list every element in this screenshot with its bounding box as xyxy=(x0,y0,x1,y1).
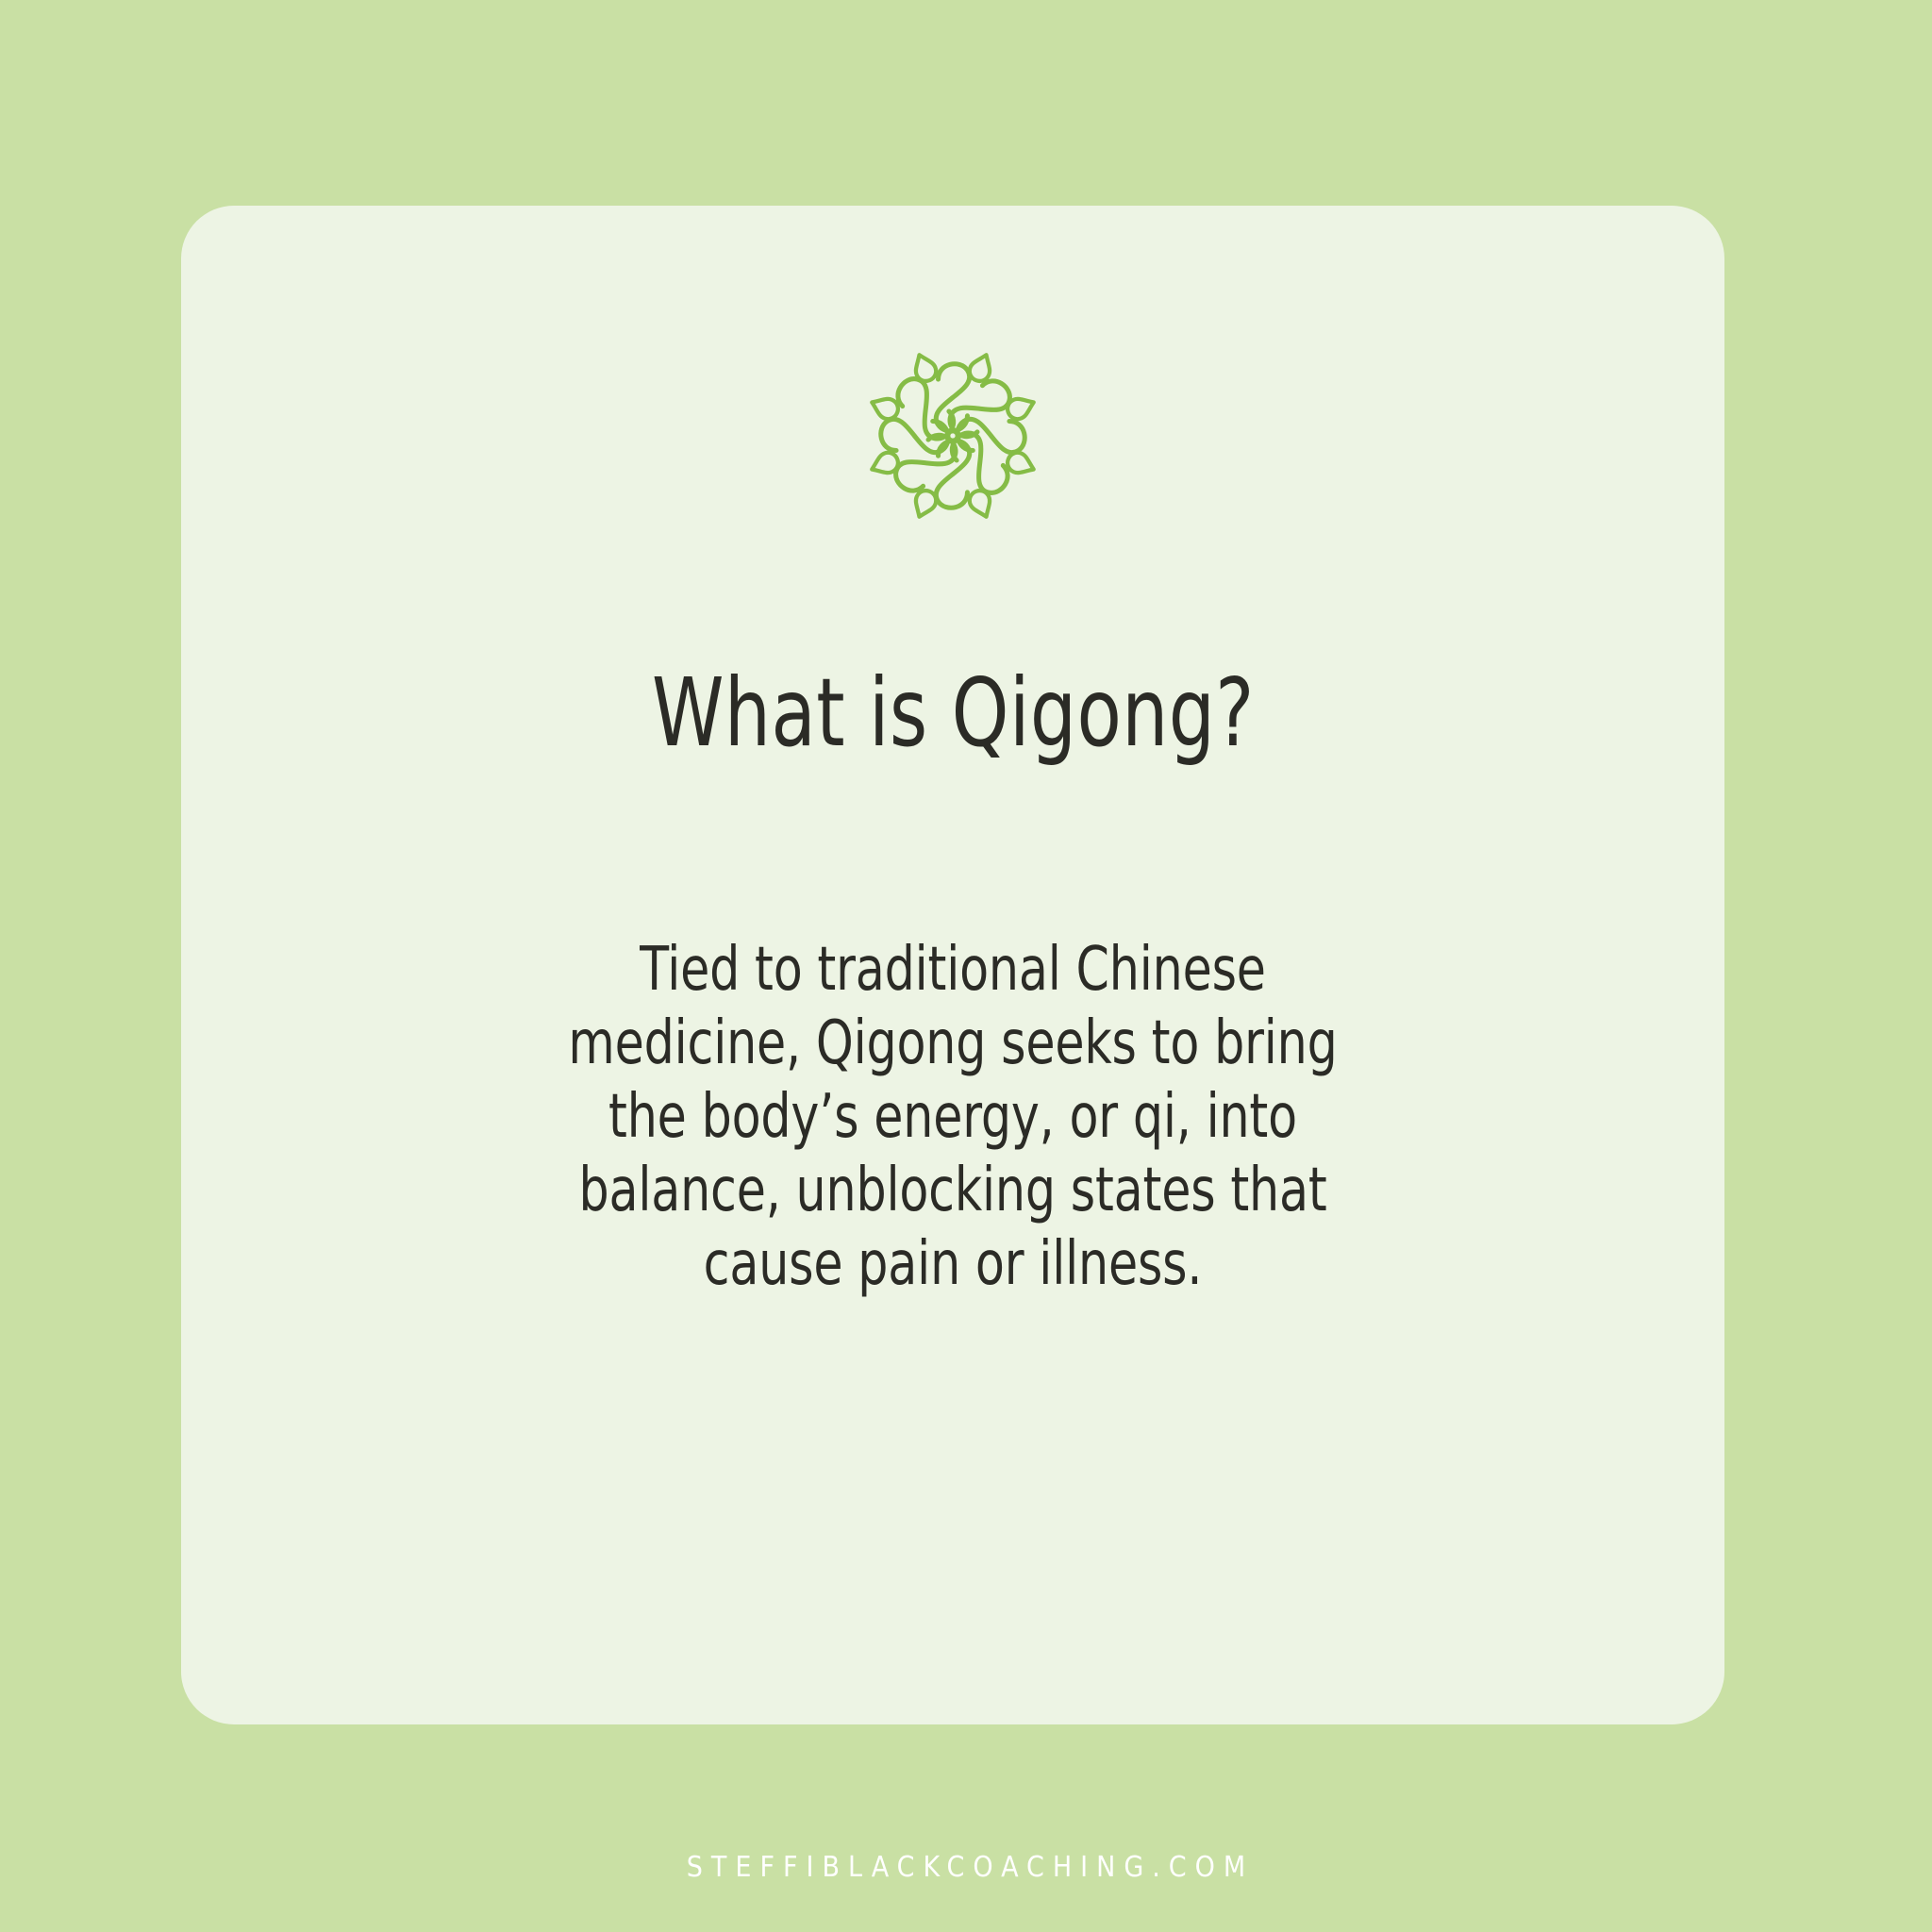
brand-logo xyxy=(843,326,1062,545)
body-line: cause pain or illness. xyxy=(463,1227,1442,1301)
body-copy: Tied to traditional Chinese medicine, Qi… xyxy=(396,933,1509,1301)
logo-petal-group xyxy=(881,364,1024,508)
content-card: What is Qigong? Tied to traditional Chin… xyxy=(181,206,1724,1724)
mandala-logo-icon xyxy=(843,326,1062,545)
logo-teardrop-group xyxy=(868,351,1038,521)
footer: STEFFIBLACKCOACHING.COM xyxy=(0,1851,1932,1884)
website-url: STEFFIBLACKCOACHING.COM xyxy=(678,1851,1254,1884)
body-line: the body’s energy, or qi, into xyxy=(463,1080,1442,1154)
body-line: balance, unblocking states that xyxy=(463,1154,1442,1227)
body-line: medicine, Qigong seeks to bring xyxy=(463,1007,1442,1080)
body-line: Tied to traditional Chinese xyxy=(463,933,1442,1007)
poster-canvas: What is Qigong? Tied to traditional Chin… xyxy=(0,0,1932,1932)
page-title: What is Qigong? xyxy=(652,666,1255,760)
